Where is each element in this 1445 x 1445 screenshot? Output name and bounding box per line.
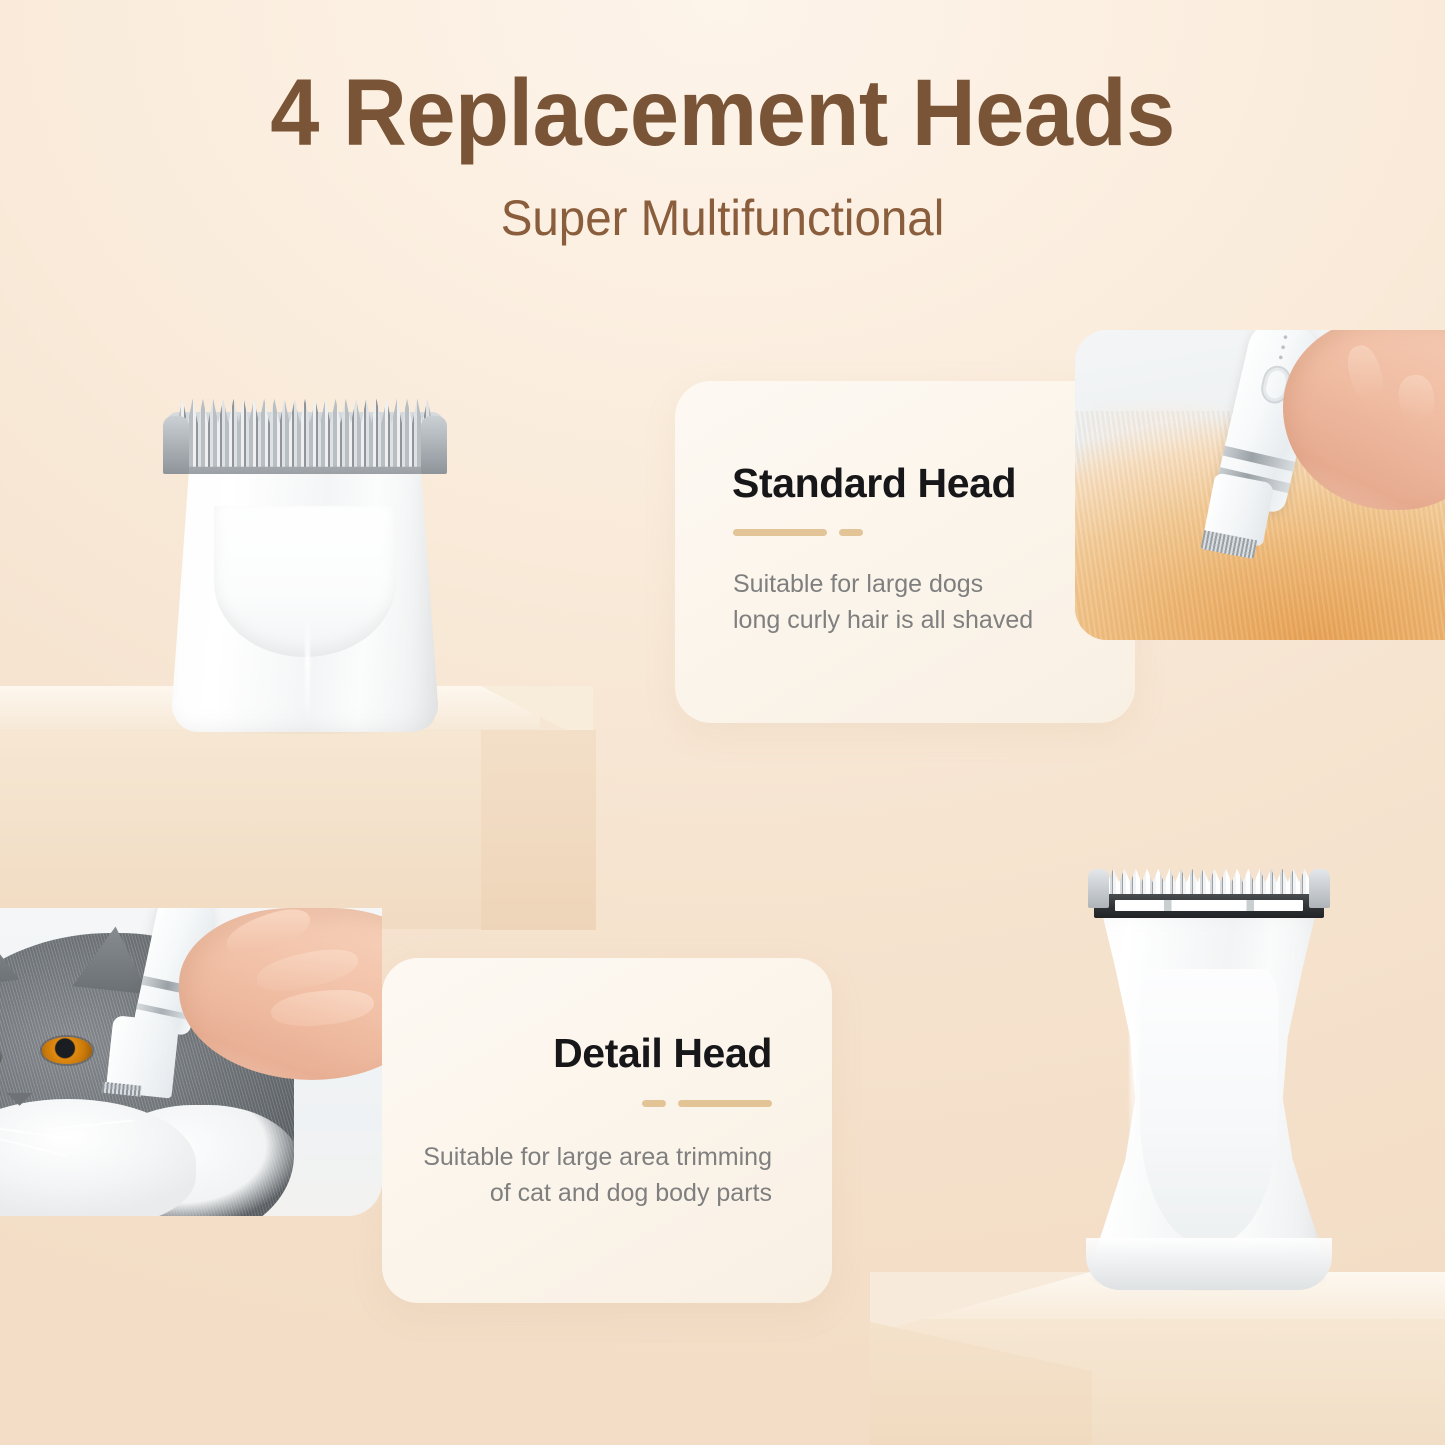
feature-heading: Detail Head [553, 1030, 772, 1077]
finger [269, 986, 375, 1031]
divider-dash-short [642, 1100, 666, 1107]
finger [1396, 373, 1437, 424]
clipper-inner-surface [1140, 969, 1278, 1245]
feature-card-standard-head: Standard Head Suitable for large dogs lo… [675, 381, 1135, 723]
pedestal-front-face [0, 729, 540, 929]
pedestal-side-face [481, 730, 596, 930]
page-subtitle: Super Multifunctional [36, 191, 1409, 246]
clipper-body [172, 453, 439, 732]
header-block: 4 Replacement Heads Super Multifunctiona… [0, 62, 1445, 246]
divider [733, 529, 863, 536]
product-image-detail-head [1078, 860, 1340, 1290]
blade-clamp-left [163, 416, 189, 474]
divider [642, 1100, 772, 1107]
photo-detail-head-in-use [0, 908, 382, 1216]
clipper-body [1086, 907, 1332, 1290]
divider-dash-long [678, 1100, 772, 1107]
feature-description: Suitable for large area trimming of cat … [423, 1140, 772, 1211]
blade-cap-right [1309, 869, 1330, 908]
feature-card-detail-head: Detail Head Suitable for large area trim… [382, 958, 832, 1303]
photo-standard-head-in-use [1075, 330, 1445, 640]
pedestal-bottom-right [870, 1272, 1445, 1445]
clipper-highlight [305, 615, 310, 727]
page-title: 4 Replacement Heads [51, 62, 1395, 165]
divider-dash-short [839, 529, 863, 536]
feature-heading: Standard Head [732, 460, 1016, 507]
clipper-base [1086, 1238, 1332, 1290]
divider-dash-long [733, 529, 827, 536]
blade-teeth-icon [177, 399, 432, 467]
cat-eye-right [42, 1037, 93, 1063]
product-image-standard-head [160, 392, 450, 732]
blade-clamp-right [421, 416, 447, 474]
blade-inlay [1115, 900, 1304, 911]
finger [1342, 341, 1388, 405]
product-feature-poster: 4 Replacement Heads Super Multifunctiona… [0, 0, 1445, 1445]
feature-description: Suitable for large dogs long curly hair … [733, 567, 1033, 638]
blade-cap-left [1088, 869, 1109, 908]
clipper-highlight [1130, 955, 1136, 1196]
